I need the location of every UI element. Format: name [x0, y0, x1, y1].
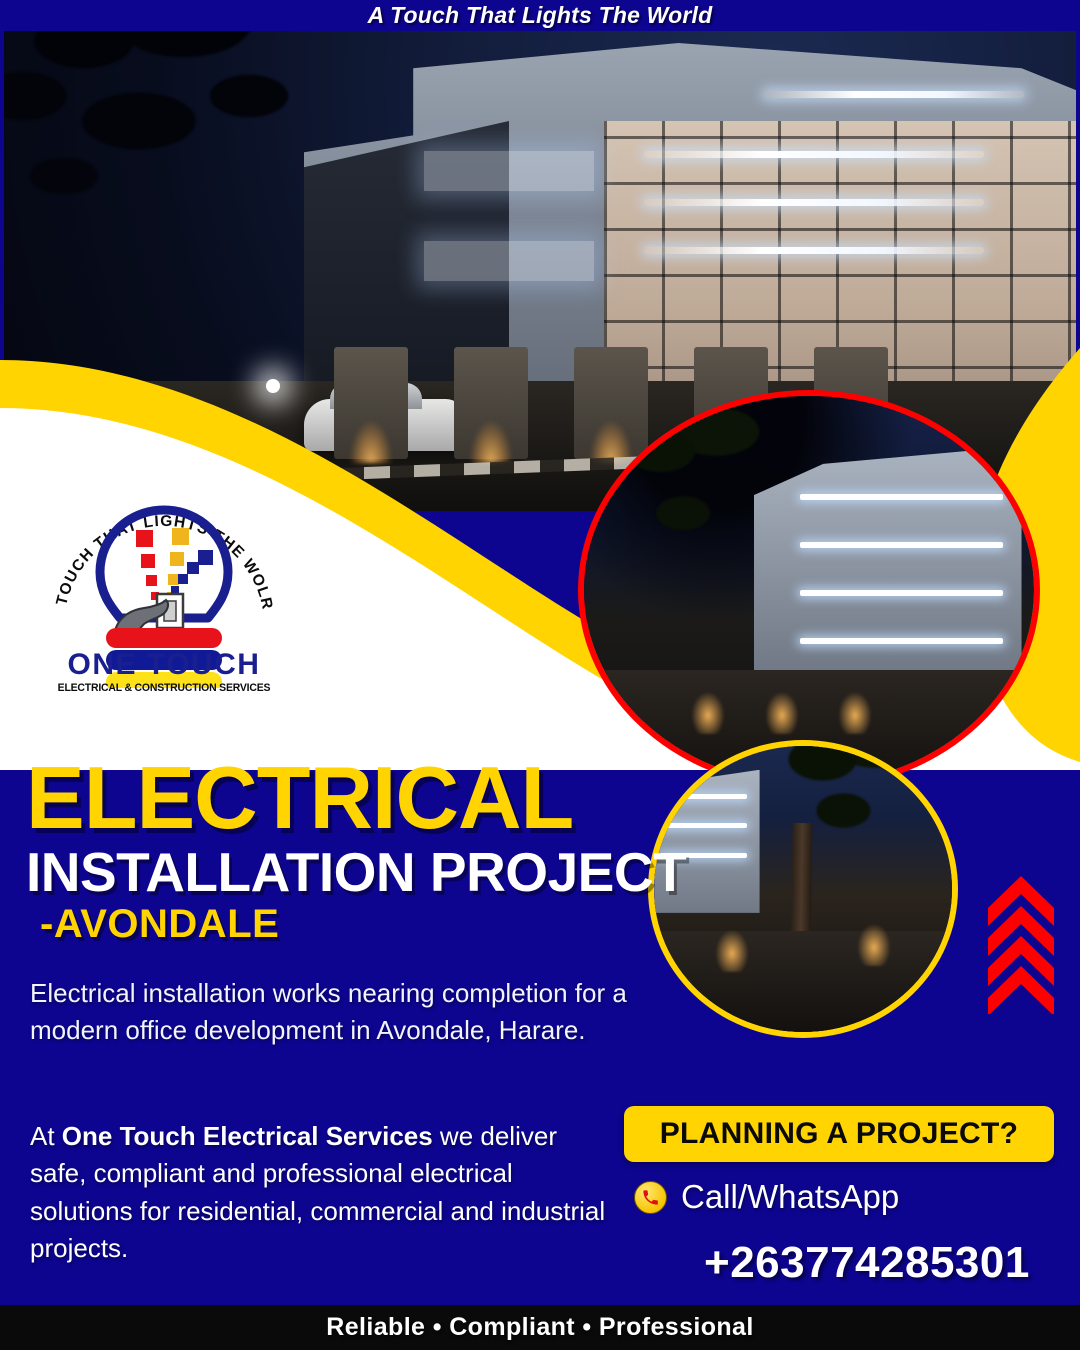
- planning-a-project-button[interactable]: PLANNING A PROJECT?: [624, 1106, 1054, 1162]
- headline-line-3: -AVONDALE: [40, 903, 686, 945]
- contact-method-label: Call/WhatsApp: [681, 1178, 899, 1216]
- logo-curved-text: A TOUCH THAT LIGHTS THE WOLRD: [44, 468, 276, 612]
- inset-led-band: [800, 542, 1003, 548]
- inset-building: [754, 446, 1022, 670]
- inset-uplight-glow: [846, 904, 902, 966]
- inset-led-band: [800, 590, 1003, 596]
- interior-floor-light: [424, 151, 594, 191]
- logo-company-name: ONE TOUCH: [44, 650, 284, 680]
- inset-led-band: [800, 494, 1003, 500]
- phone-handset-icon: [634, 1181, 667, 1214]
- footer-text: Reliable • Compliant • Professional: [326, 1313, 753, 1342]
- inset-uplight-glow: [704, 910, 760, 972]
- led-band: [644, 247, 984, 254]
- double-chevron-up-icon: [988, 876, 1054, 1014]
- inset-uplight-glow: [827, 672, 883, 734]
- interior-floor-light: [424, 241, 594, 281]
- description-paragraph-2: At One Touch Electrical Services we deli…: [30, 1118, 608, 1268]
- led-band: [644, 151, 984, 158]
- cta-pill-label: PLANNING A PROJECT?: [660, 1117, 1019, 1151]
- logo-band-red: [106, 628, 222, 648]
- company-logo: A TOUCH THAT LIGHTS THE WOLRD: [44, 468, 284, 688]
- chevron-decoration: [984, 874, 1058, 1019]
- paragraph2-company-name: One Touch Electrical Services: [62, 1121, 433, 1151]
- headline-line-2: INSTALLATION PROJECT: [26, 844, 686, 900]
- led-band: [644, 199, 984, 206]
- led-band: [764, 91, 1024, 98]
- flyer-canvas: A TOUCH THAT LIGHTS THE WOLRD: [0, 0, 1080, 1350]
- paragraph2-prefix: At: [30, 1121, 62, 1151]
- inset-tree-silhouette-icon: [753, 740, 927, 913]
- headline-block: ELECTRICAL INSTALLATION PROJECT -AVONDAL…: [26, 756, 686, 945]
- inset-photo-red-circle: [578, 390, 1040, 790]
- contact-row[interactable]: Call/WhatsApp: [634, 1178, 899, 1216]
- top-tagline-banner: A Touch That Lights The World: [0, 0, 1080, 31]
- inset-tree-silhouette-icon: [587, 398, 772, 638]
- inset-led-band: [800, 638, 1003, 644]
- logo-company-subtitle: ELECTRICAL & CONSTRUCTION SERVICES: [50, 682, 278, 694]
- inset-red-image: [578, 390, 1040, 790]
- headline-line-1: ELECTRICAL: [26, 756, 686, 840]
- footer-bar: Reliable • Compliant • Professional: [0, 1305, 1080, 1350]
- inset-uplight-glow: [680, 672, 736, 734]
- inset-photo-yellow-circle: [648, 740, 958, 1038]
- inset-yellow-image: [648, 740, 958, 1038]
- tagline-text: A Touch That Lights The World: [368, 2, 713, 29]
- inset-uplight-glow: [754, 672, 810, 734]
- phone-number[interactable]: +263774285301: [704, 1238, 1030, 1288]
- description-paragraph-1: Electrical installation works nearing co…: [30, 975, 630, 1050]
- inset-ground: [648, 931, 958, 1038]
